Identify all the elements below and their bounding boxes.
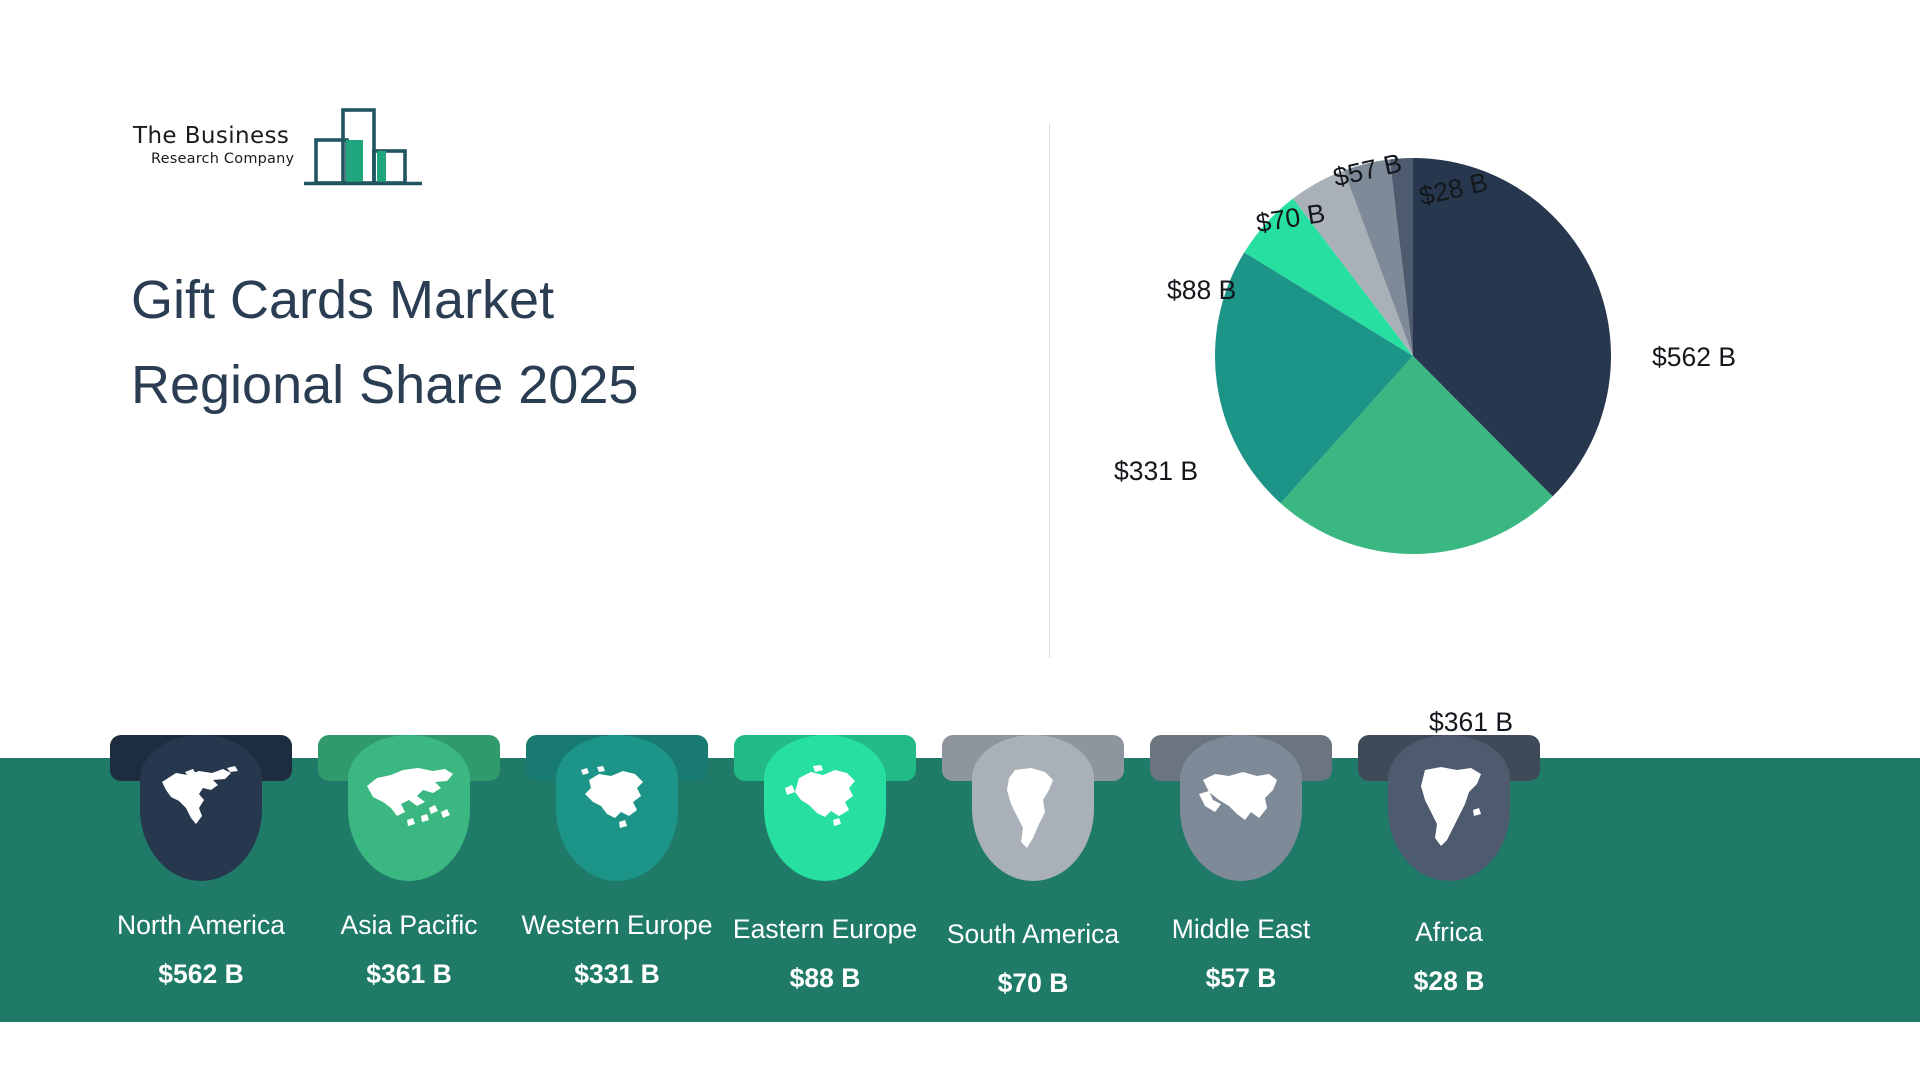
- legend-card-eastern-europe[interactable]: Eastern Europe$88 B: [734, 758, 934, 1022]
- vertical-divider: [1049, 124, 1050, 658]
- asia-pacific-map-icon: [363, 764, 455, 852]
- card-shield: [556, 735, 678, 881]
- logo-wordmark: The Business Research Company: [133, 123, 313, 167]
- north-america-map-icon: [155, 764, 247, 852]
- card-value-label: $70 B: [924, 969, 1142, 998]
- card-region-label: North America: [92, 911, 310, 940]
- pie-value-label: $361 B: [1429, 707, 1513, 738]
- card-value-label: $57 B: [1132, 964, 1350, 993]
- logo-line-1: The Business: [133, 123, 313, 149]
- africa-map-icon: [1403, 764, 1495, 852]
- card-shield: [140, 735, 262, 881]
- page-title-line-2: Regional Share 2025: [131, 343, 891, 428]
- middle-east-map-icon: [1195, 764, 1287, 852]
- page-title-line-1: Gift Cards Market: [131, 258, 891, 343]
- card-region-label: Africa: [1340, 918, 1558, 947]
- pie-value-label: $331 B: [1114, 456, 1198, 487]
- card-region-label: Asia Pacific: [300, 911, 518, 940]
- company-logo: The Business Research Company: [133, 103, 423, 193]
- card-region-label: Eastern Europe: [716, 915, 934, 944]
- card-value-label: $562 B: [92, 960, 310, 989]
- western-europe-map-icon: [571, 764, 663, 852]
- card-value-label: $331 B: [508, 960, 726, 989]
- legend-card-list: North America$562 BAsia Pacific$361 BWes…: [0, 758, 1920, 1022]
- pie-value-label: $88 B: [1167, 275, 1236, 306]
- legend-card-south-america[interactable]: South America$70 B: [942, 758, 1142, 1022]
- card-shield: [972, 735, 1094, 881]
- legend-card-asia-pacific[interactable]: Asia Pacific$361 B: [318, 758, 518, 1022]
- eastern-europe-map-icon: [779, 764, 871, 852]
- pie-value-label: $562 B: [1652, 342, 1736, 373]
- regional-share-pie-chart: $562 B$361 B$331 B$88 B$70 B$57 B$28 B: [1215, 158, 1735, 678]
- legend-card-africa[interactable]: Africa$28 B: [1358, 758, 1558, 1022]
- legend-card-middle-east[interactable]: Middle East$57 B: [1150, 758, 1350, 1022]
- card-region-label: Middle East: [1132, 915, 1350, 944]
- south-america-map-icon: [987, 764, 1079, 852]
- legend-card-western-europe[interactable]: Western Europe$331 B: [526, 758, 726, 1022]
- page-title: Gift Cards Market Regional Share 2025: [131, 258, 891, 428]
- card-value-label: $88 B: [716, 964, 934, 993]
- card-region-label: Western Europe: [508, 911, 726, 940]
- logo-line-2: Research Company: [151, 151, 313, 167]
- card-value-label: $361 B: [300, 960, 518, 989]
- card-region-label: South America: [924, 920, 1142, 949]
- card-shield: [764, 735, 886, 881]
- card-shield: [348, 735, 470, 881]
- footer-spacer: [0, 1022, 1920, 1080]
- card-value-label: $28 B: [1340, 967, 1558, 996]
- logo-bar-chart-icon: [303, 103, 423, 187]
- card-shield: [1180, 735, 1302, 881]
- card-shield: [1388, 735, 1510, 881]
- legend-card-north-america[interactable]: North America$562 B: [110, 758, 310, 1022]
